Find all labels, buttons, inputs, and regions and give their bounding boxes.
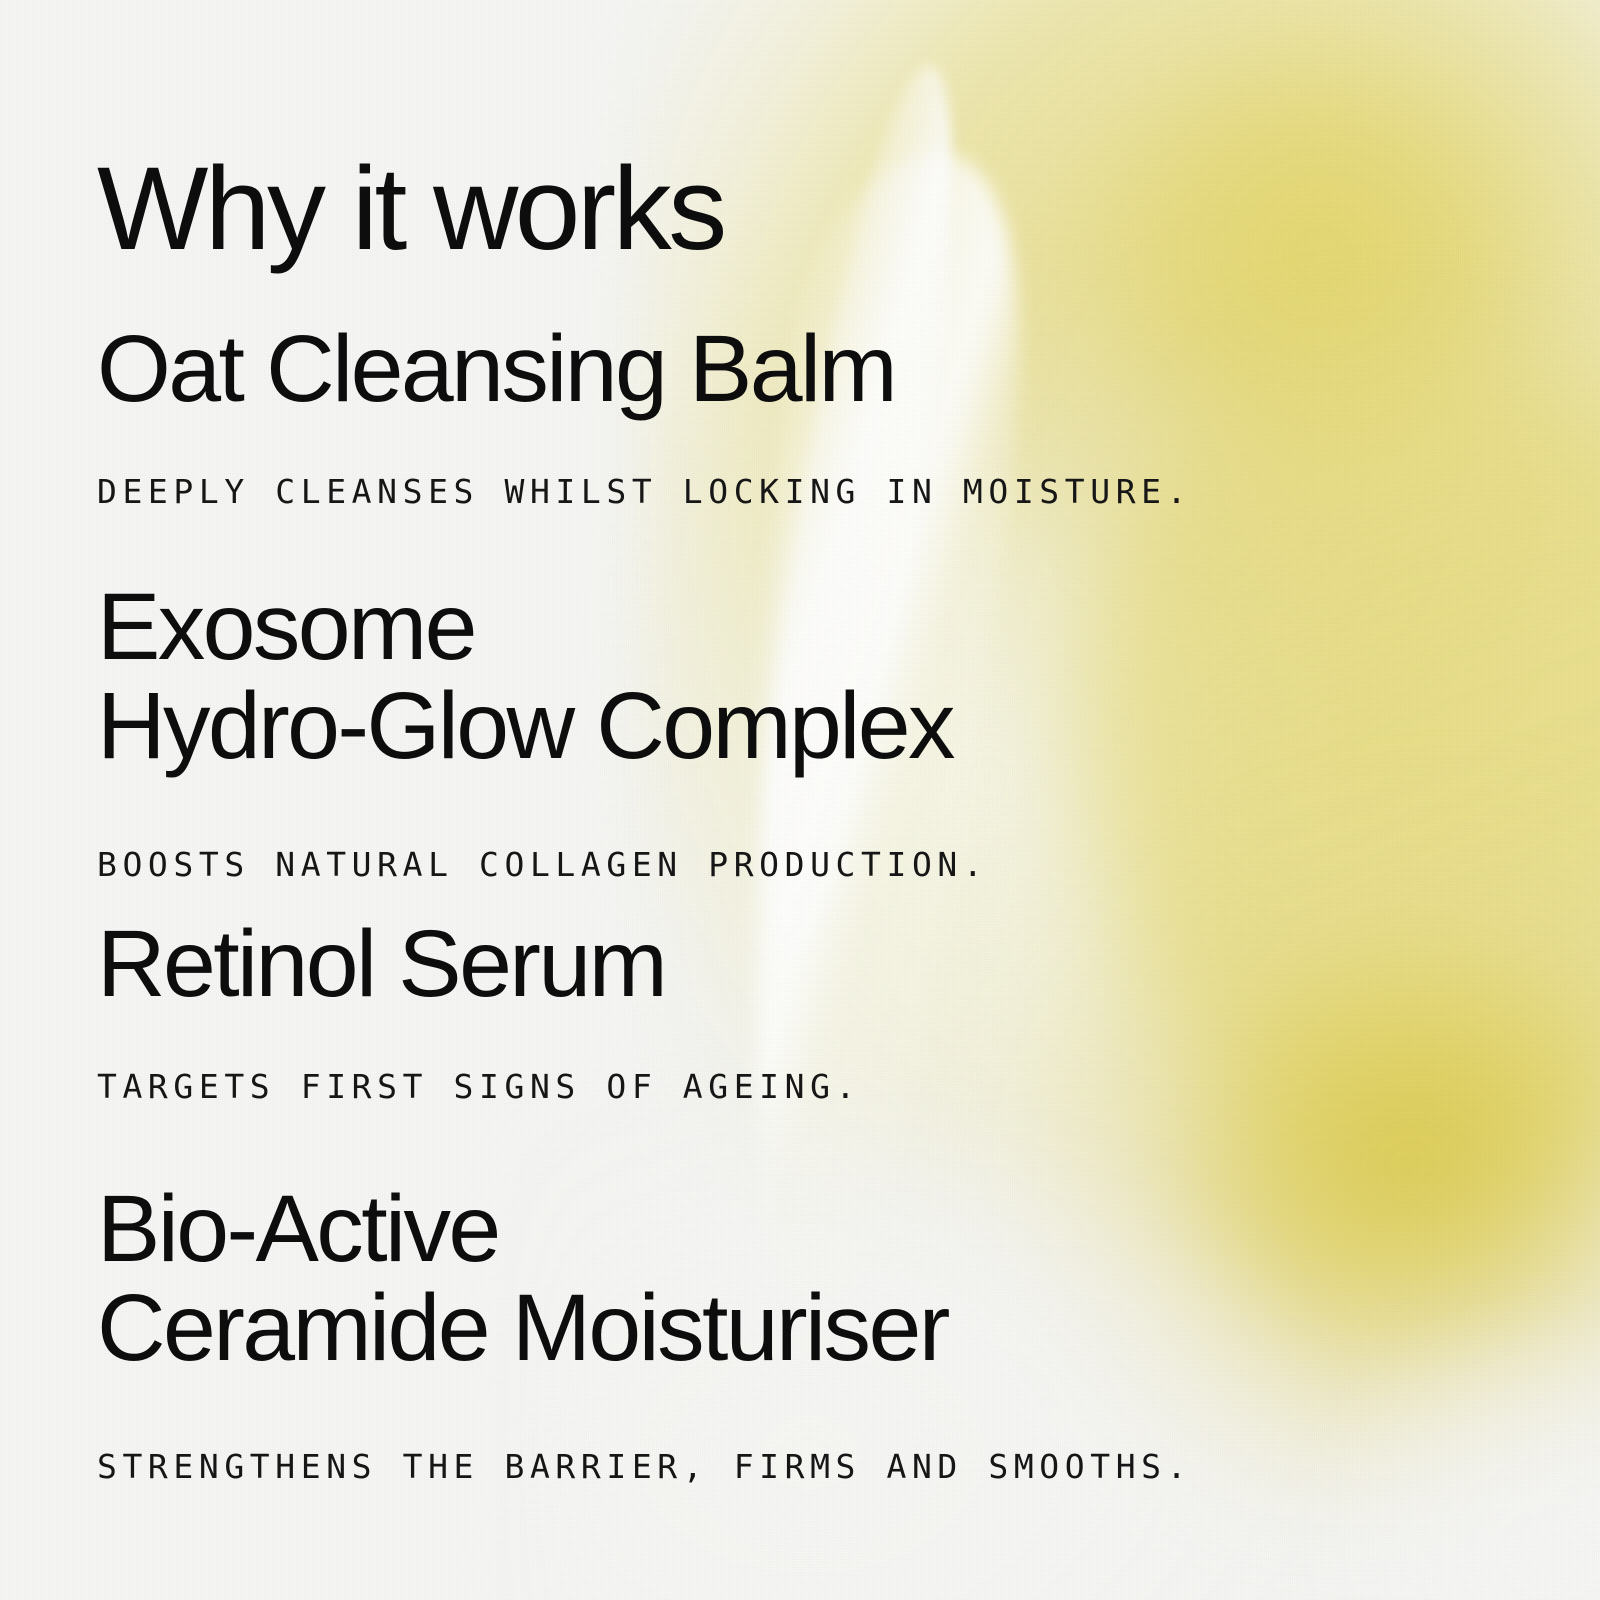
page-title: Why it works [97, 150, 724, 268]
ingredient-block-exosome-hydro-glow-complex: Exosome Hydro-Glow Complex BOOSTS NATURA… [97, 578, 988, 881]
ingredient-title: Exosome Hydro-Glow Complex [97, 578, 988, 776]
ingredient-block-oat-cleansing-balm: Oat Cleansing Balm DEEPLY CLEANSES WHILS… [97, 320, 1192, 508]
ingredient-caption: STRENGTHENS THE BARRIER, FIRMS AND SMOOT… [97, 1450, 1192, 1483]
ingredient-title-line-2: Hydro-Glow Complex [97, 677, 988, 776]
ingredient-caption: BOOSTS NATURAL COLLAGEN PRODUCTION. [97, 848, 988, 881]
ingredient-caption: DEEPLY CLEANSES WHILST LOCKING IN MOISTU… [97, 475, 1192, 508]
ingredient-title: Bio-Active Ceramide Moisturiser [97, 1180, 1192, 1378]
product-benefits-card: Why it works Oat Cleansing Balm DEEPLY C… [0, 0, 1600, 1600]
ingredient-block-bio-active-ceramide-moisturiser: Bio-Active Ceramide Moisturiser STRENGTH… [97, 1180, 1192, 1483]
ingredient-title-line-2: Ceramide Moisturiser [97, 1279, 1192, 1378]
ingredient-block-retinol-serum: Retinol Serum TARGETS FIRST SIGNS OF AGE… [97, 915, 861, 1103]
ingredient-title-line-1: Retinol Serum [97, 915, 861, 1014]
ingredient-caption: TARGETS FIRST SIGNS OF AGEING. [97, 1070, 861, 1103]
ingredient-title-line-1: Bio-Active [97, 1180, 1192, 1279]
content-area: Why it works Oat Cleansing Balm DEEPLY C… [0, 0, 1600, 1600]
ingredient-title: Oat Cleansing Balm [97, 320, 1192, 419]
ingredient-title-line-1: Oat Cleansing Balm [97, 320, 1192, 419]
ingredient-title-line-1: Exosome [97, 578, 988, 677]
ingredient-title: Retinol Serum [97, 915, 861, 1014]
